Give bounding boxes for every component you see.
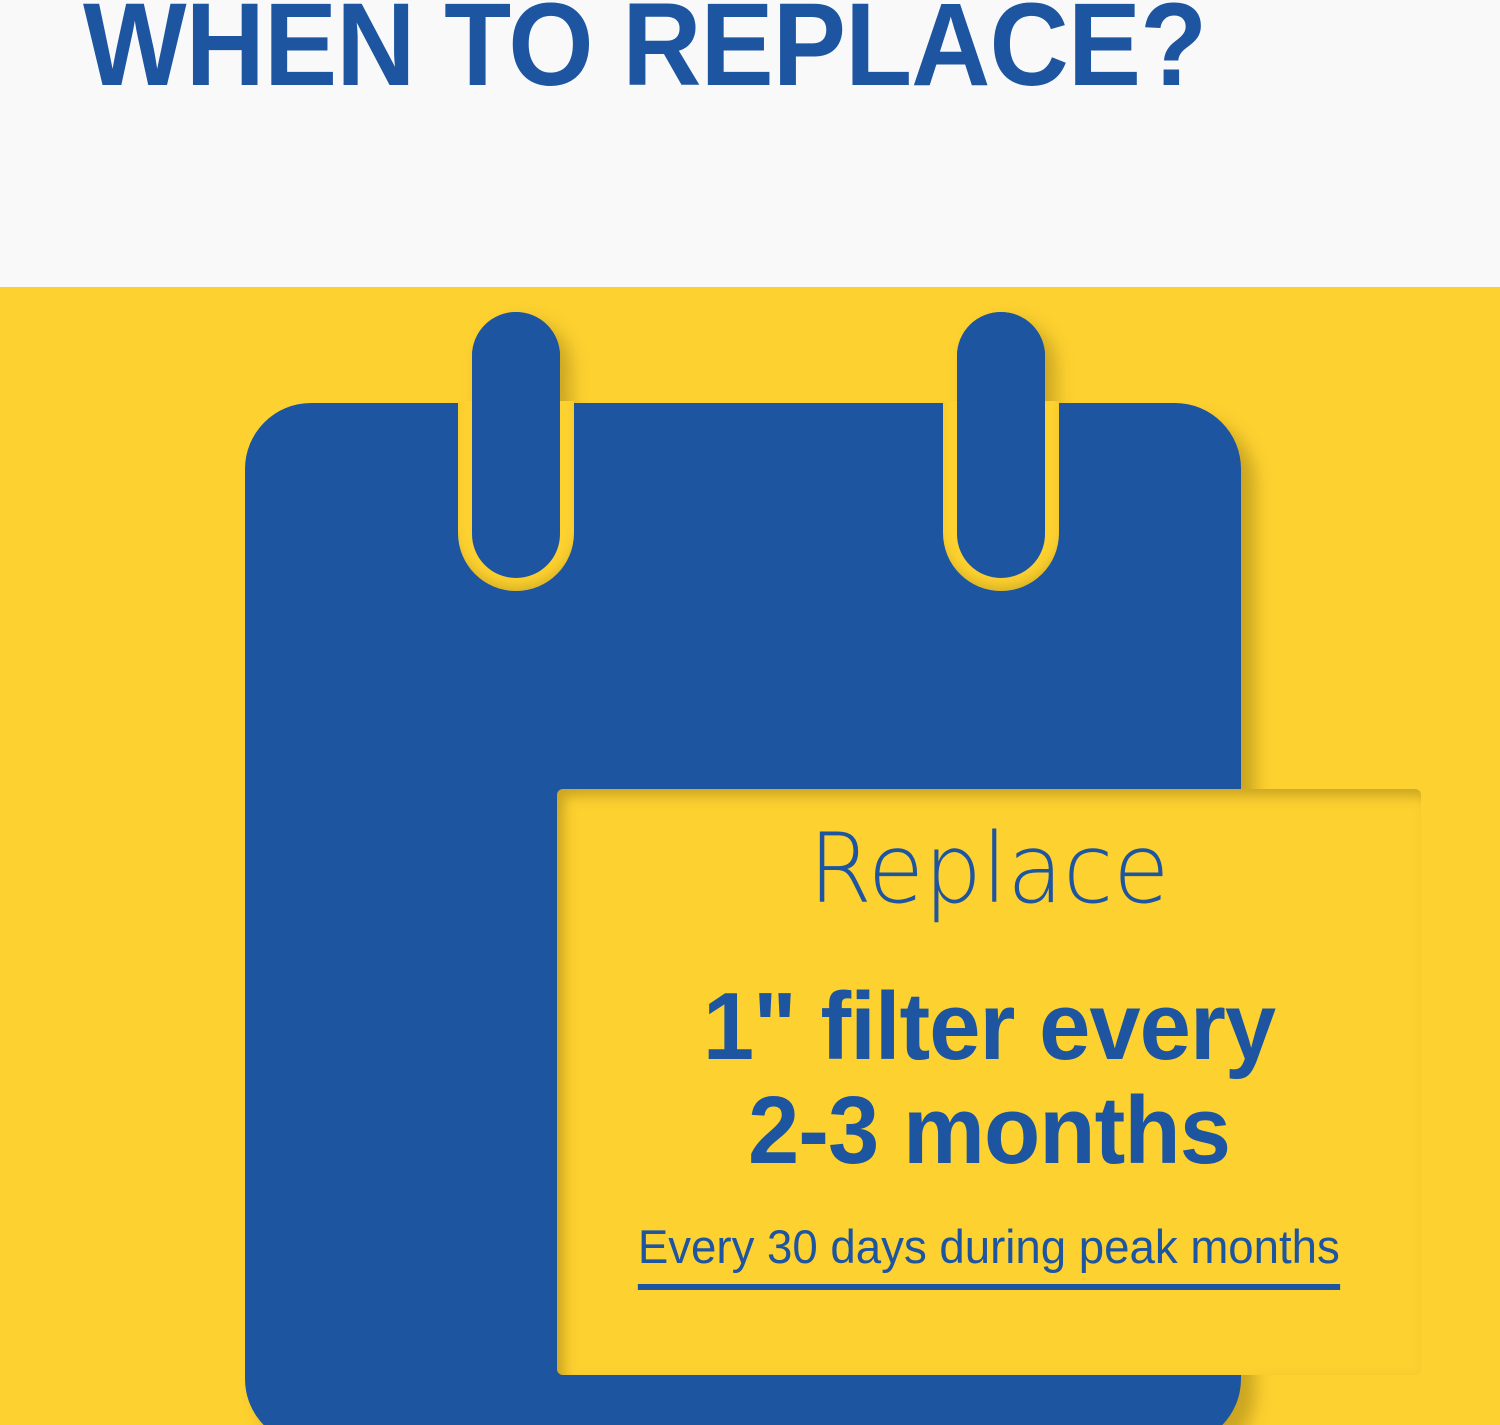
calendar-page: Replace 1" filter every 2-3 months Every… <box>557 789 1421 1375</box>
replace-heading: Replace <box>579 821 1400 917</box>
infographic-canvas: WHEN TO REPLACE? Replace 1" filter every… <box>0 0 1500 1425</box>
calendar-ring-left <box>472 312 560 578</box>
replace-interval: 1" filter every 2-3 months <box>574 975 1403 1183</box>
replace-interval-line-1: 1" filter every <box>574 975 1403 1079</box>
calendar-body: Replace 1" filter every 2-3 months Every… <box>245 403 1241 1425</box>
calendar-ring-right <box>957 312 1045 578</box>
replace-interval-line-2: 2-3 months <box>574 1079 1403 1183</box>
yellow-panel: Replace 1" filter every 2-3 months Every… <box>0 287 1500 1425</box>
page-title: WHEN TO REPLACE? <box>83 0 1206 104</box>
header-band: WHEN TO REPLACE? <box>0 0 1500 287</box>
peak-note-wrap: Every 30 days during peak months <box>557 1221 1421 1290</box>
calendar-icon: Replace 1" filter every 2-3 months Every… <box>0 287 1500 1425</box>
peak-note: Every 30 days during peak months <box>638 1221 1340 1290</box>
